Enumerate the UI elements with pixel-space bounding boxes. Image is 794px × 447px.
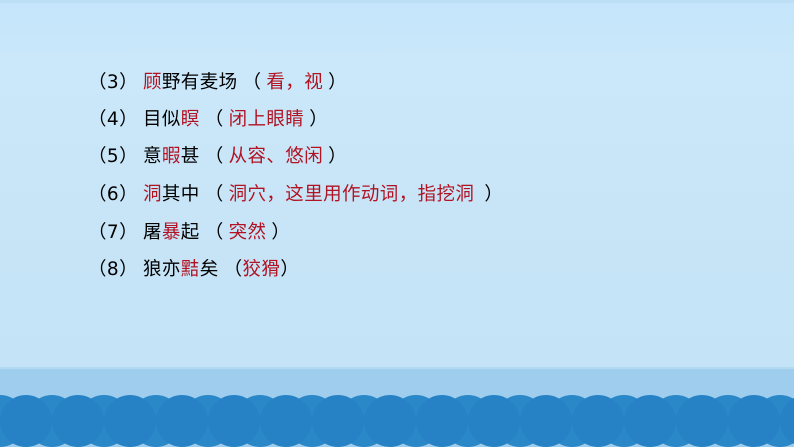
close-paren: ） [328, 146, 347, 167]
keyword-rest: 矣 [200, 259, 219, 280]
gloss-text: 看，视 [266, 72, 323, 93]
line-number: （6） [88, 184, 138, 205]
gloss-text: 突然 [229, 222, 267, 243]
vocabulary-line-6: （6）洞其中（洞穴，这里用作动词，指挖洞） [88, 186, 503, 205]
keyword-prefix: 屠 [143, 222, 162, 243]
open-paren: （ [205, 109, 224, 130]
open-paren: （ [224, 259, 243, 280]
close-paren: ） [328, 72, 347, 93]
gloss-text: 狡猾 [243, 259, 281, 280]
keyword-highlight: 顾 [143, 72, 162, 93]
close-paren: ） [280, 259, 299, 280]
open-paren: （ [243, 72, 262, 93]
line-number: （5） [88, 146, 138, 167]
keyword-rest: 甚 [181, 146, 200, 167]
vocabulary-line-8: （8）狼亦黠矣（狡猾） [88, 261, 299, 280]
close-paren: ） [271, 222, 290, 243]
keyword-highlight: 黠 [181, 259, 200, 280]
gloss-text: 洞穴，这里用作动词，指挖洞 [229, 184, 475, 205]
keyword-highlight: 暇 [162, 146, 181, 167]
line-number: （3） [88, 72, 138, 93]
background-lower-panel [0, 369, 794, 447]
open-paren: （ [205, 184, 224, 205]
keyword-highlight: 洞 [143, 184, 162, 205]
vocabulary-line-5: （5）意暇甚（从容、悠闲） [88, 148, 347, 167]
text-content-area: （3）顾野有麦场（看，视） （4）目似瞑（闭上眼睛） （5）意暇甚（从容、悠闲）… [0, 0, 794, 369]
keyword-highlight: 瞑 [181, 109, 200, 130]
keyword-highlight: 暴 [162, 222, 181, 243]
close-paren: ） [309, 109, 328, 130]
keyword-rest: 其中 [162, 184, 200, 205]
keyword-rest: 起 [181, 222, 200, 243]
gloss-text: 从容、悠闲 [229, 146, 324, 167]
keyword-prefix: 意 [143, 146, 162, 167]
close-paren: ） [484, 184, 503, 205]
vocabulary-line-7: （7）屠暴起（突然） [88, 224, 290, 243]
vocabulary-line-4: （4）目似瞑（闭上眼睛） [88, 111, 328, 130]
gloss-text: 闭上眼睛 [229, 109, 305, 130]
keyword-rest: 野有麦场 [162, 72, 238, 93]
line-number: （4） [88, 109, 138, 130]
keyword-prefix: 狼亦 [143, 259, 181, 280]
line-number: （8） [88, 259, 138, 280]
open-paren: （ [205, 222, 224, 243]
line-number: （7） [88, 222, 138, 243]
keyword-prefix: 目似 [143, 109, 181, 130]
open-paren: （ [205, 146, 224, 167]
slide-canvas: （3）顾野有麦场（看，视） （4）目似瞑（闭上眼睛） （5）意暇甚（从容、悠闲）… [0, 0, 794, 447]
vocabulary-line-3: （3）顾野有麦场（看，视） [88, 74, 347, 93]
